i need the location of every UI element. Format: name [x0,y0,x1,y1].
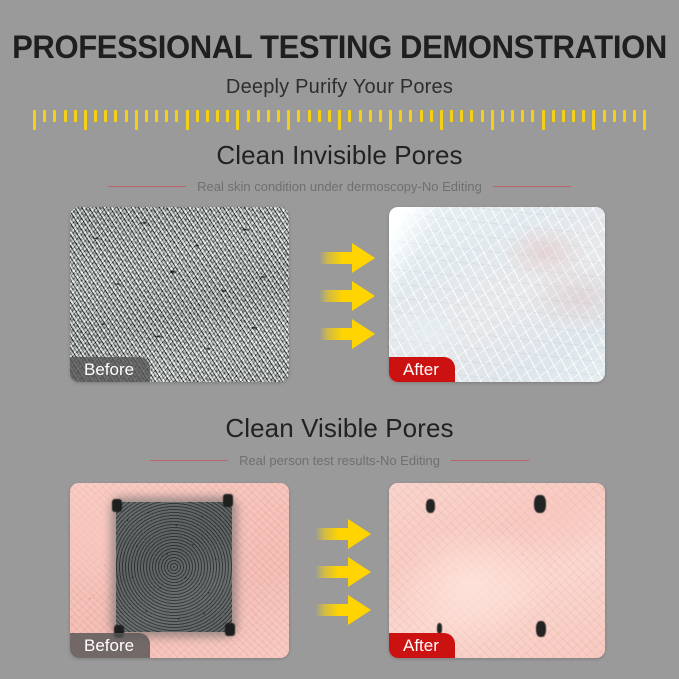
rule-left-icon [108,186,186,187]
ruler-tick [501,110,504,122]
ruler-tick [84,110,87,130]
infographic-page: PROFESSIONAL TESTING DEMONSTRATION Deepl… [0,0,679,679]
ruler-tick [420,110,423,122]
ruler-tick [33,110,36,130]
section-2-before-panel: Before [70,483,289,658]
ruler-tick [542,110,545,130]
ruler-tick [379,110,382,122]
ruler-tick [64,110,67,122]
arrow-right-icon [315,557,371,587]
arrow-right-icon [319,243,375,273]
ruler-divider [33,110,647,132]
ruler-tick [247,110,250,122]
ruler-tick [186,110,189,130]
ruler-tick [359,110,362,122]
ruler-tick [155,110,158,122]
section-2-subtitle: Real person test results-No Editing [239,453,440,468]
ruler-tick [125,110,128,122]
blackhead-cluster [112,499,122,512]
ruler-tick [94,110,97,122]
ruler-tick [582,110,585,122]
ruler-tick [277,110,280,122]
section-1-before-panel: Before [70,207,289,382]
ruler-tick [287,110,290,130]
clogged-pore-patch [116,502,232,632]
ruler-tick [114,110,117,122]
section-2-title: Clean Visible Pores [0,413,679,444]
arrow-right-icon [319,319,375,349]
ruler-tick [369,110,372,122]
ruler-tick [348,110,351,122]
ruler-tick [206,110,209,122]
blackhead-cluster [223,494,233,507]
ruler-tick [389,110,392,130]
rule-right-icon [493,186,571,187]
ruler-tick [491,110,494,130]
ruler-tick [623,110,626,122]
section-1-before-image [70,207,289,382]
ruler-tick [562,110,565,122]
section-2-before-badge: Before [70,633,150,658]
section-1-before-badge: Before [70,357,150,382]
ruler-tick [216,110,219,122]
ruler-tick [603,110,606,122]
ruler-tick [440,110,443,130]
ruler-tick [165,110,168,122]
section-1-after-panel: After [389,207,605,382]
blackhead-cluster [225,623,235,636]
ruler-tick [552,110,555,122]
ruler-tick [318,110,321,122]
ruler-tick [297,110,300,122]
ruler-tick [267,110,270,122]
section-2-subtitle-row: Real person test results-No Editing [0,453,679,468]
ruler-tick [572,110,575,122]
ruler-tick [430,110,433,122]
arrow-right-icon [319,281,375,311]
section-1-title: Clean Invisible Pores [0,140,679,171]
ruler-tick [196,110,199,122]
ruler-tick [135,110,138,130]
section-1-after-image [389,207,605,382]
section-2-after-image [389,483,605,658]
page-title: PROFESSIONAL TESTING DEMONSTRATION [10,29,669,66]
section-2-after-panel: After [389,483,605,658]
ruler-tick [511,110,514,122]
page-subtitle: Deeply Purify Your Pores [0,76,679,99]
arrow-right-icon [315,595,371,625]
ruler-tick [175,110,178,122]
ruler-tick [53,110,56,122]
section-2-arrows [315,519,371,625]
ruler-tick [399,110,402,122]
section-2-after-badge: After [389,633,455,658]
ruler-tick [633,110,636,122]
ruler-tick [643,110,646,130]
ruler-tick [338,110,341,130]
ruler-tick [104,110,107,122]
ruler-tick [613,110,616,122]
arrow-right-icon [315,519,371,549]
ruler-tick [308,110,311,122]
ruler-tick [328,110,331,122]
ruler-tick [43,110,46,122]
rule-left-icon [150,460,228,461]
residual-speck [534,495,546,513]
ruler-tick [257,110,260,122]
ruler-tick [145,110,148,122]
section-1-subtitle: Real skin condition under dermoscopy-No … [197,179,482,194]
ruler-tick [470,110,473,122]
rule-right-icon [451,460,529,461]
residual-speck [536,621,546,637]
ruler-tick [531,110,534,122]
ruler-tick [236,110,239,130]
ruler-tick [450,110,453,122]
ruler-tick [460,110,463,122]
section-1-arrows [319,243,375,349]
section-1-after-badge: After [389,357,455,382]
ruler-tick [481,110,484,122]
ruler-tick [521,110,524,122]
ruler-tick [592,110,595,130]
section-2-before-image [70,483,289,658]
ruler-tick [409,110,412,122]
residual-speck [426,499,435,513]
ruler-tick [226,110,229,122]
section-1-subtitle-row: Real skin condition under dermoscopy-No … [0,179,679,194]
ruler-tick [74,110,77,122]
